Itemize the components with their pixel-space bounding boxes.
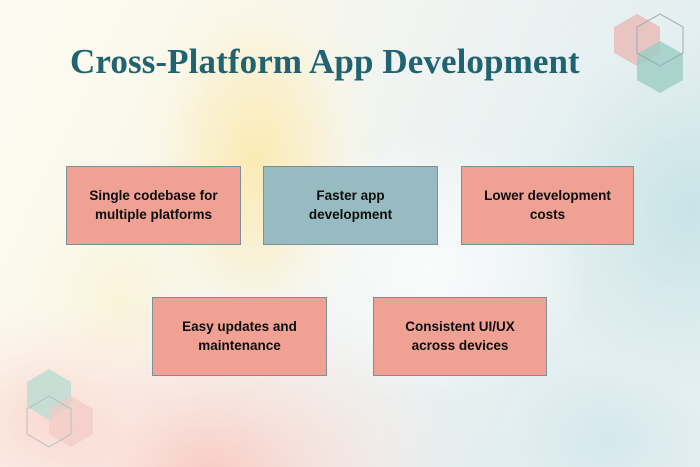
hexagon-cluster-bottom-left-icon xyxy=(22,363,114,463)
benefit-box-consistent-ui-ux[interactable]: Consistent UI/UX across devices xyxy=(373,297,547,376)
hexagon-teal-icon xyxy=(27,369,71,420)
benefit-box-label: Single codebase for multiple platforms xyxy=(79,187,228,224)
hexagon-outline-icon xyxy=(27,396,71,447)
benefit-box-label: Easy updates and maintenance xyxy=(165,318,314,355)
page-title: Cross-Platform App Development xyxy=(70,42,645,82)
benefit-box-lower-costs[interactable]: Lower development costs xyxy=(461,166,634,245)
benefit-box-easy-updates[interactable]: Easy updates and maintenance xyxy=(152,297,327,376)
benefit-box-faster-development[interactable]: Faster app development xyxy=(263,166,438,245)
benefit-box-label: Consistent UI/UX across devices xyxy=(386,318,534,355)
hexagon-pink-icon xyxy=(49,396,93,447)
benefit-box-single-codebase[interactable]: Single codebase for multiple platforms xyxy=(66,166,241,245)
slide-canvas: Cross-Platform App Development Single co… xyxy=(0,0,700,467)
benefit-box-label: Faster app development xyxy=(276,187,425,224)
benefit-box-label: Lower development costs xyxy=(474,187,621,224)
